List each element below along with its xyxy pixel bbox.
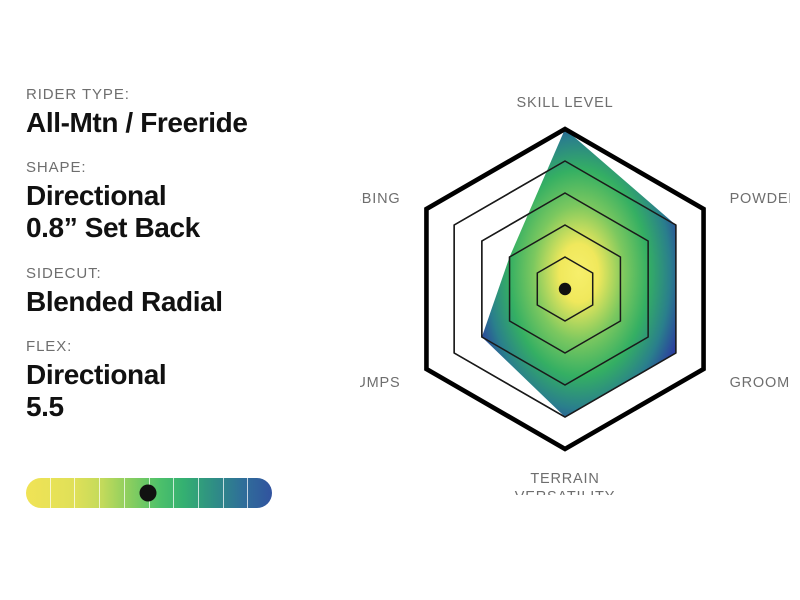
flex-slider-segment bbox=[199, 478, 224, 508]
radar-axis-label-line: SKILL LEVEL bbox=[517, 95, 614, 111]
flex-slider-segment bbox=[100, 478, 125, 508]
spec-card-page: RIDER TYPE: All-Mtn / Freeride SHAPE: Di… bbox=[0, 0, 800, 600]
spec-label-sidecut: SIDECUT: bbox=[26, 265, 356, 284]
spec-shape: SHAPE: Directional 0.8” Set Back bbox=[26, 159, 356, 245]
radar-axis-label-terrain-versatility: TERRAINVERSATILITY bbox=[515, 471, 615, 495]
flex-slider-segment bbox=[51, 478, 76, 508]
radar-axis-label-line: VERSATILITY bbox=[515, 489, 615, 495]
flex-rating-slider[interactable] bbox=[26, 478, 272, 508]
spec-value-flex: Directional 5.5 bbox=[26, 359, 356, 424]
radar-center-dot bbox=[559, 283, 571, 295]
spec-label-rider-type: RIDER TYPE: bbox=[26, 86, 356, 105]
radar-axis-label-jumps: JUMPS bbox=[360, 375, 400, 391]
radar-chart-svg: SKILL LEVELPOWDERGROOMERSTERRAINVERSATIL… bbox=[360, 95, 790, 495]
spec-rider-type: RIDER TYPE: All-Mtn / Freeride bbox=[26, 86, 356, 139]
radar-axis-label-skill-level: SKILL LEVEL bbox=[517, 95, 614, 111]
radar-axis-label-groomers: GROOMERS bbox=[730, 375, 790, 391]
radar-axis-label-line: GROOMERS bbox=[730, 375, 790, 391]
radar-chart: SKILL LEVELPOWDERGROOMERSTERRAINVERSATIL… bbox=[360, 95, 790, 495]
radar-axis-label-line: POWDER bbox=[730, 191, 790, 207]
radar-axis-label-powder: POWDER bbox=[730, 191, 790, 207]
radar-axis-label-jibbing: JIBBING bbox=[360, 191, 400, 207]
spec-value-sidecut: Blended Radial bbox=[26, 286, 356, 318]
spec-value-rider-type: All-Mtn / Freeride bbox=[26, 107, 356, 139]
spec-flex: FLEX: Directional 5.5 bbox=[26, 338, 356, 424]
flex-slider-thumb[interactable] bbox=[140, 485, 157, 502]
radar-data-polygon bbox=[482, 129, 676, 417]
radar-axis-label-line: TERRAIN bbox=[530, 471, 599, 487]
spec-sidecut: SIDECUT: Blended Radial bbox=[26, 265, 356, 318]
spec-label-flex: FLEX: bbox=[26, 338, 356, 357]
flex-slider-segment bbox=[174, 478, 199, 508]
spec-label-shape: SHAPE: bbox=[26, 159, 356, 178]
radar-axis-label-line: JIBBING bbox=[360, 191, 400, 207]
spec-value-shape: Directional 0.8” Set Back bbox=[26, 180, 356, 245]
flex-slider-segment bbox=[75, 478, 100, 508]
flex-slider-segment bbox=[248, 478, 272, 508]
spec-panel: RIDER TYPE: All-Mtn / Freeride SHAPE: Di… bbox=[26, 86, 356, 444]
radar-axis-label-line: JUMPS bbox=[360, 375, 400, 391]
flex-slider-segment bbox=[26, 478, 51, 508]
flex-slider-segment bbox=[224, 478, 249, 508]
